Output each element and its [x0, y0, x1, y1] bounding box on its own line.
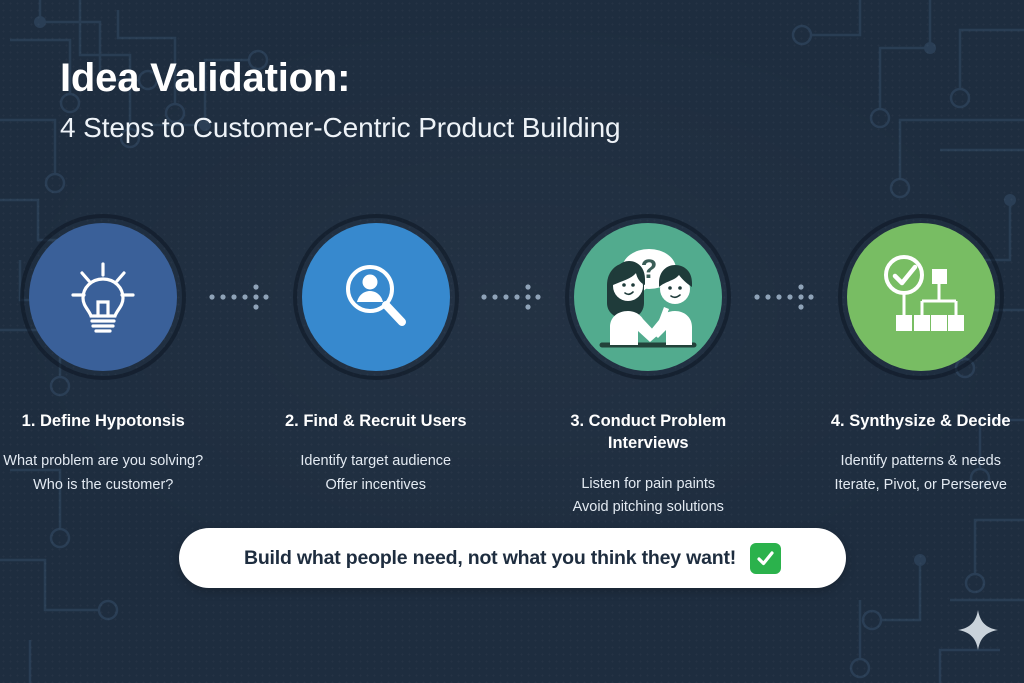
step-4-line-2: Iterate, Pivot, or Persereve	[835, 474, 1007, 497]
check-mark-icon	[750, 543, 781, 574]
connector-2	[479, 212, 545, 382]
step-4-circle	[847, 223, 995, 371]
step-1-line-1: What problem are you solving?	[3, 450, 203, 473]
step-4-icon-circle	[836, 212, 1006, 382]
page-subtitle: 4 Steps to Customer-Centric Product Buil…	[60, 112, 621, 144]
takeaway-banner: Build what people need, not what you thi…	[179, 528, 846, 588]
step-2-icon-circle	[291, 212, 461, 382]
step-2-circle	[302, 223, 450, 371]
step-1-title: 1. Define Hypotonsis	[22, 410, 185, 432]
lightbulb-icon	[62, 256, 144, 338]
step-1-line-2: Who is the customer?	[3, 474, 203, 497]
infographic-canvas: Idea Validation: 4 Steps to Customer-Cen…	[0, 0, 1024, 683]
sparkle-icon	[956, 608, 1000, 652]
step-3-circle: ?	[574, 223, 722, 371]
step-define-hypothesis[interactable]: 1. Define Hypotonsis What problem are yo…	[0, 212, 207, 497]
step-find-recruit-users[interactable]: 2. Find & Recruit Users Identify target …	[273, 212, 480, 497]
step-conduct-problem-interviews[interactable]: ?	[545, 212, 752, 520]
user-search-icon	[335, 256, 417, 338]
step-2-title: 2. Find & Recruit Users	[285, 410, 467, 432]
step-4-lines: Identify patterns & needs Iterate, Pivot…	[835, 450, 1007, 497]
step-3-title: 3. Conduct Problem Interviews	[545, 410, 752, 455]
dotted-arrow-icon	[481, 282, 543, 312]
page-title: Idea Validation:	[60, 56, 621, 101]
check-glyph-icon	[755, 548, 776, 569]
step-1-circle	[29, 223, 177, 371]
connector-1	[207, 212, 273, 382]
dotted-arrow-icon	[754, 282, 816, 312]
step-1-lines: What problem are you solving? Who is the…	[3, 450, 203, 497]
step-3-lines: Listen for pain paints Avoid pitching so…	[573, 473, 724, 520]
step-2-line-1: Identify target audience	[300, 450, 451, 473]
check-hierarchy-icon	[875, 251, 967, 343]
step-2-line-2: Offer incentives	[300, 474, 451, 497]
steps-row: 1. Define Hypotonsis What problem are yo…	[0, 212, 1024, 520]
interview-conversation-icon: ?	[574, 223, 722, 371]
sparkle-decoration	[956, 608, 1000, 657]
step-2-lines: Identify target audience Offer incentive…	[300, 450, 451, 497]
step-1-icon-circle	[18, 212, 188, 382]
step-synthesize-decide[interactable]: 4. Synthysize & Decide Identify patterns…	[818, 212, 1024, 497]
dotted-arrow-icon	[209, 282, 271, 312]
connector-3	[752, 212, 818, 382]
step-3-line-1: Listen for pain paints	[573, 473, 724, 496]
step-4-line-1: Identify patterns & needs	[835, 450, 1007, 473]
banner-text: Build what people need, not what you thi…	[244, 547, 736, 570]
step-3-line-2: Avoid pitching solutions	[573, 496, 724, 519]
step-3-icon-circle: ?	[563, 212, 733, 382]
step-4-title: 4. Synthysize & Decide	[831, 410, 1011, 432]
header: Idea Validation: 4 Steps to Customer-Cen…	[60, 56, 621, 144]
